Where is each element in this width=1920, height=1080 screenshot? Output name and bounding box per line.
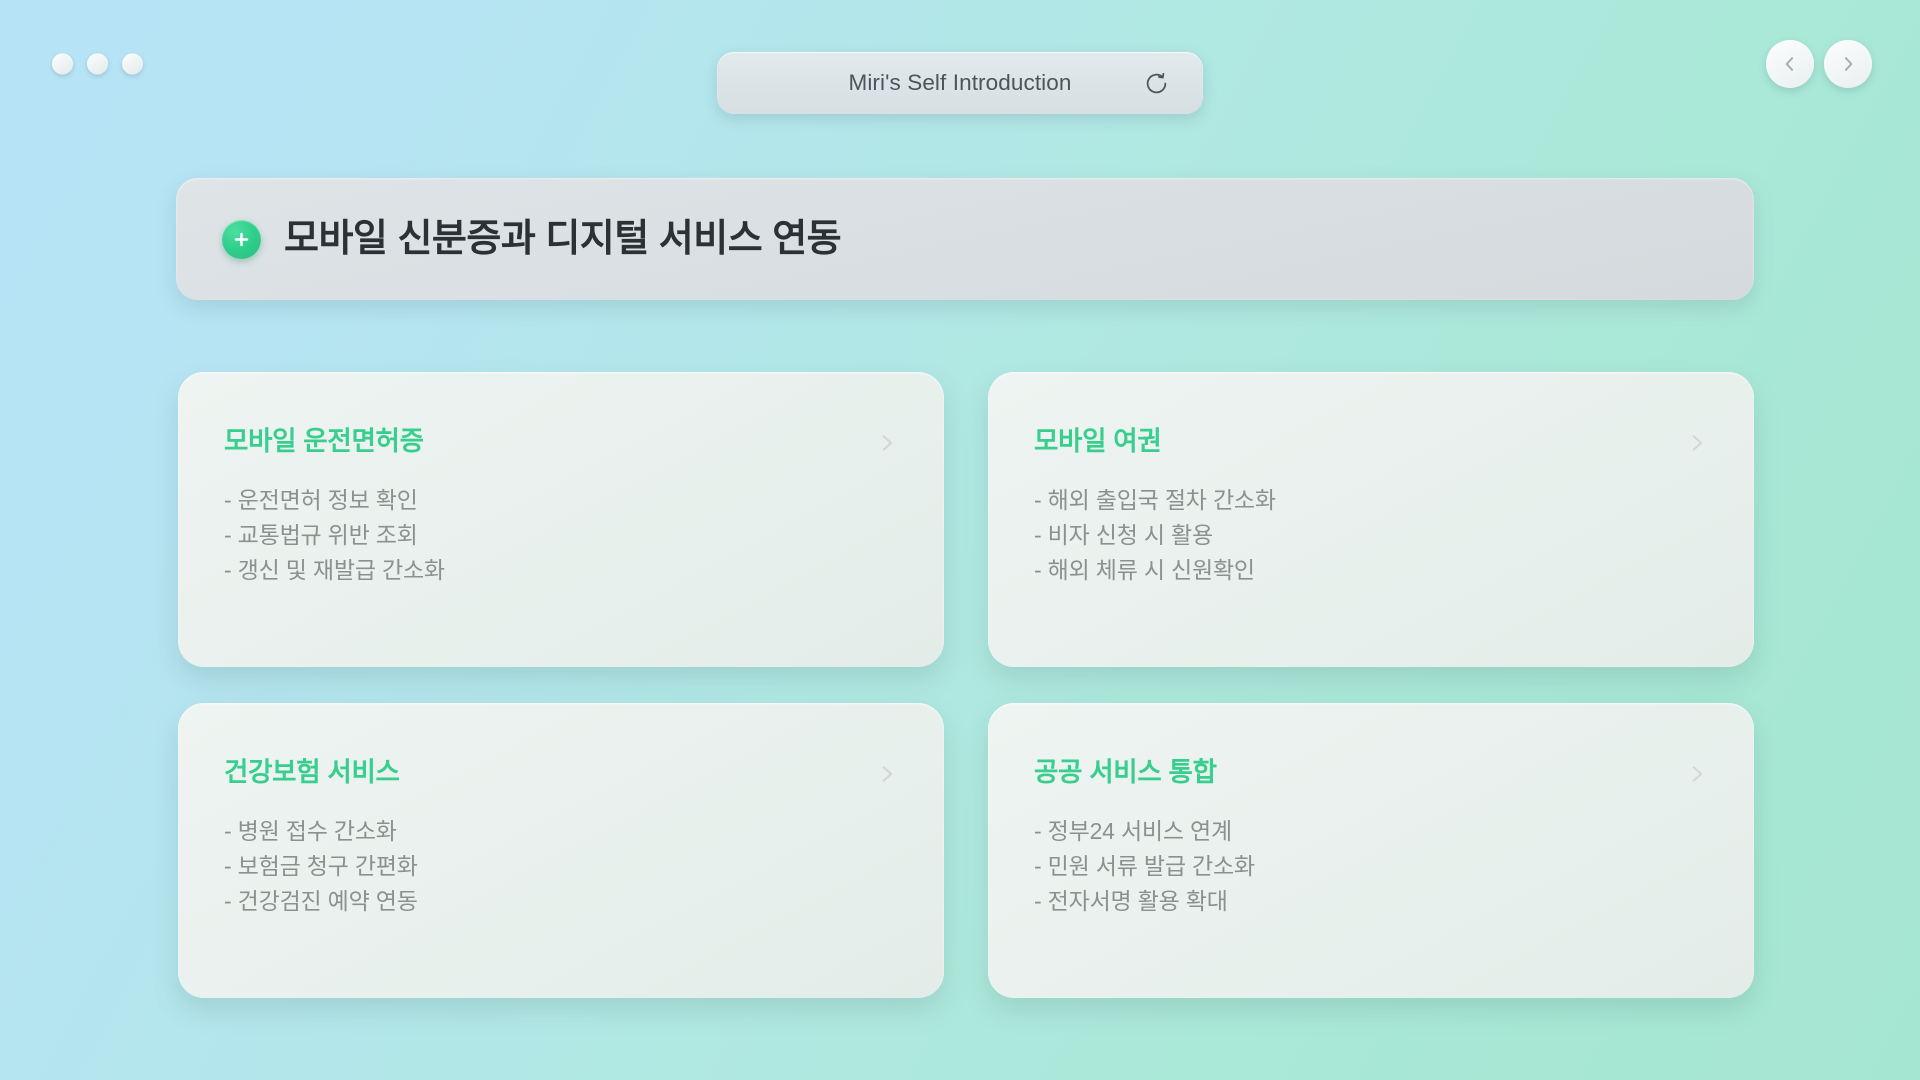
page-title: 모바일 신분증과 디지털 서비스 연동 <box>284 220 841 258</box>
service-card[interactable]: 공공 서비스 통합 - 정부24 서비스 연계 - 민원 서류 발급 간소화 -… <box>988 703 1754 998</box>
list-item: - 건강검진 예약 연동 <box>224 884 898 919</box>
card-title: 모바일 여권 <box>1034 426 1161 456</box>
list-item: - 교통법규 위반 조회 <box>224 518 898 553</box>
window-titlebar: Miri's Self Introduction <box>0 0 1920 128</box>
list-item: - 해외 체류 시 신원확인 <box>1034 553 1708 588</box>
service-card[interactable]: 건강보험 서비스 - 병원 접수 간소화 - 보험금 청구 간편화 - 건강검진… <box>178 703 944 998</box>
tab-title: Miri's Self Introduction <box>848 70 1071 96</box>
chevron-right-icon[interactable] <box>876 428 898 458</box>
card-feature-list: - 해외 출입국 절차 간소화 - 비자 신청 시 활용 - 해외 체류 시 신… <box>1034 483 1708 588</box>
list-item: - 병원 접수 간소화 <box>224 814 898 849</box>
card-feature-list: - 운전면허 정보 확인 - 교통법규 위반 조회 - 갱신 및 재발급 간소화 <box>224 483 898 588</box>
list-item: - 정부24 서비스 연계 <box>1034 814 1708 849</box>
card-title: 건강보험 서비스 <box>224 757 400 787</box>
browser-tab[interactable]: Miri's Self Introduction <box>717 52 1203 114</box>
chevron-left-icon <box>1780 54 1800 74</box>
list-item: - 해외 출입국 절차 간소화 <box>1034 483 1708 518</box>
list-item: - 갱신 및 재발급 간소화 <box>224 553 898 588</box>
card-header: 모바일 운전면허증 <box>224 426 898 458</box>
list-item: - 비자 신청 시 활용 <box>1034 518 1708 553</box>
list-item: - 보험금 청구 간편화 <box>224 849 898 884</box>
chevron-right-icon <box>1838 54 1858 74</box>
list-item: - 전자서명 활용 확대 <box>1034 884 1708 919</box>
minimize-dot-icon[interactable] <box>87 54 108 75</box>
card-feature-list: - 병원 접수 간소화 - 보험금 청구 간편화 - 건강검진 예약 연동 <box>224 814 898 919</box>
service-card[interactable]: 모바일 여권 - 해외 출입국 절차 간소화 - 비자 신청 시 활용 - 해외… <box>988 372 1754 667</box>
card-title: 모바일 운전면허증 <box>224 426 424 456</box>
nav-arrow-group <box>1766 40 1872 88</box>
nav-back-button[interactable] <box>1766 40 1814 88</box>
chevron-right-icon[interactable] <box>1686 428 1708 458</box>
plus-icon <box>222 220 261 259</box>
chevron-right-icon[interactable] <box>1686 759 1708 789</box>
service-card-grid: 모바일 운전면허증 - 운전면허 정보 확인 - 교통법규 위반 조회 - 갱신… <box>178 372 1754 998</box>
section-header-bar[interactable]: 모바일 신분증과 디지털 서비스 연동 <box>176 178 1754 300</box>
card-header: 건강보험 서비스 <box>224 757 898 789</box>
card-header: 공공 서비스 통합 <box>1034 757 1708 789</box>
reload-icon[interactable] <box>1143 70 1169 96</box>
nav-forward-button[interactable] <box>1824 40 1872 88</box>
close-dot-icon[interactable] <box>52 54 73 75</box>
card-title: 공공 서비스 통합 <box>1034 757 1217 787</box>
card-feature-list: - 정부24 서비스 연계 - 민원 서류 발급 간소화 - 전자서명 활용 확… <box>1034 814 1708 919</box>
traffic-light-group <box>52 54 143 75</box>
maximize-dot-icon[interactable] <box>122 54 143 75</box>
card-header: 모바일 여권 <box>1034 426 1708 458</box>
service-card[interactable]: 모바일 운전면허증 - 운전면허 정보 확인 - 교통법규 위반 조회 - 갱신… <box>178 372 944 667</box>
chevron-right-icon[interactable] <box>876 759 898 789</box>
list-item: - 민원 서류 발급 간소화 <box>1034 849 1708 884</box>
list-item: - 운전면허 정보 확인 <box>224 483 898 518</box>
